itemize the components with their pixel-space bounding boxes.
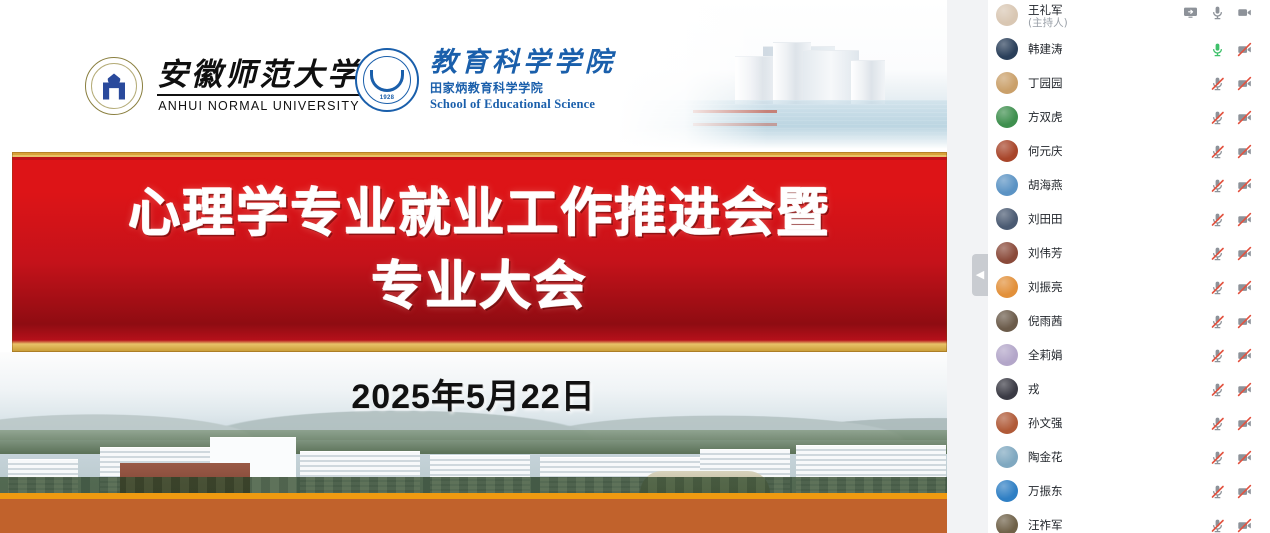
meeting-window: 安徽师范大学 ANHUI NORMAL UNIVERSITY 1928 教育科学… bbox=[0, 0, 1270, 533]
participant-name: 何元庆 bbox=[1028, 144, 1063, 158]
participant-name: 戎 bbox=[1028, 382, 1040, 396]
university-logo: 安徽师范大学 ANHUI NORMAL UNIVERSITY bbox=[85, 57, 361, 115]
participant-name: 万振东 bbox=[1028, 484, 1063, 498]
panel-collapse-handle[interactable]: ◀ bbox=[972, 254, 988, 296]
participant-name-block: 胡海燕 bbox=[1028, 178, 1063, 192]
participant-name: 王礼军 bbox=[1028, 3, 1068, 17]
participant-row[interactable]: 万振东 bbox=[988, 474, 1270, 508]
microphone-muted-icon[interactable] bbox=[1210, 484, 1225, 499]
participant-row[interactable]: 方双虎 bbox=[988, 100, 1270, 134]
microphone-muted-icon[interactable] bbox=[1210, 144, 1225, 159]
participant-status-icons bbox=[1210, 144, 1260, 159]
waterfront-building-photo bbox=[617, 0, 947, 152]
school-name-en: School of Educational Science bbox=[430, 97, 616, 112]
participant-status-icons bbox=[1210, 382, 1260, 397]
microphone-muted-icon[interactable] bbox=[1210, 416, 1225, 431]
participant-row[interactable]: 刘伟芳 bbox=[988, 236, 1270, 270]
slide-title-banner: 心理学专业就业工作推进会暨 专业大会 bbox=[12, 152, 947, 352]
avatar bbox=[996, 208, 1018, 230]
seal-hands-emblem bbox=[370, 70, 404, 92]
avatar bbox=[996, 412, 1018, 434]
photo-building-4 bbox=[851, 60, 885, 104]
school-name-cn: 教育科学学院 bbox=[430, 48, 616, 76]
microphone-muted-icon[interactable] bbox=[1210, 518, 1225, 533]
participant-row[interactable]: 孙文强 bbox=[988, 406, 1270, 440]
camera-off-icon[interactable] bbox=[1237, 314, 1252, 329]
participant-name-block: 万振东 bbox=[1028, 484, 1063, 498]
participant-row[interactable]: 韩建涛 bbox=[988, 32, 1270, 66]
participant-row[interactable]: 丁园园 bbox=[988, 66, 1270, 100]
microphone-muted-icon[interactable] bbox=[1210, 178, 1225, 193]
camera-icon[interactable] bbox=[1237, 5, 1252, 20]
participant-name: 刘田田 bbox=[1028, 212, 1063, 226]
camera-off-icon[interactable] bbox=[1237, 110, 1252, 125]
participant-name-block: 戎 bbox=[1028, 382, 1040, 396]
camera-off-icon[interactable] bbox=[1237, 348, 1252, 363]
avatar bbox=[996, 72, 1018, 94]
participant-status-icons bbox=[1210, 314, 1260, 329]
participant-name: 胡海燕 bbox=[1028, 178, 1063, 192]
microphone-muted-icon[interactable] bbox=[1210, 246, 1225, 261]
camera-off-icon[interactable] bbox=[1237, 518, 1252, 533]
participant-status-icons bbox=[1210, 178, 1260, 193]
school-seal-icon: 1928 bbox=[355, 48, 419, 112]
participant-name: 倪雨茜 bbox=[1028, 314, 1063, 328]
participant-name-block: 王礼军(主持人) bbox=[1028, 3, 1068, 31]
microphone-muted-icon[interactable] bbox=[1210, 314, 1225, 329]
photo-bottom-fade bbox=[617, 126, 947, 152]
campus-buildings bbox=[0, 422, 947, 493]
camera-off-icon[interactable] bbox=[1237, 416, 1252, 431]
campus-treeline-near bbox=[0, 477, 947, 493]
slide-title-line-1: 心理学专业就业工作推进会暨 bbox=[12, 181, 947, 248]
microphone-muted-icon[interactable] bbox=[1210, 450, 1225, 465]
participant-name: 孙文强 bbox=[1028, 416, 1063, 430]
microphone-muted-icon[interactable] bbox=[1210, 76, 1225, 91]
participant-name: 方双虎 bbox=[1028, 110, 1063, 124]
participant-name-block: 方双虎 bbox=[1028, 110, 1063, 124]
participant-status-icons bbox=[1210, 110, 1260, 125]
participant-name-block: 刘田田 bbox=[1028, 212, 1063, 226]
avatar bbox=[996, 378, 1018, 400]
participant-row[interactable]: 戎 bbox=[988, 372, 1270, 406]
participant-name-block: 刘伟芳 bbox=[1028, 246, 1063, 260]
avatar bbox=[996, 276, 1018, 298]
participant-name: 刘振亮 bbox=[1028, 280, 1063, 294]
camera-off-icon[interactable] bbox=[1237, 246, 1252, 261]
participant-status-icons bbox=[1183, 5, 1260, 20]
university-name-cn: 安徽师范大学 bbox=[157, 59, 361, 96]
participant-row[interactable]: 王礼军(主持人) bbox=[988, 0, 1270, 32]
university-seal-icon bbox=[85, 57, 143, 115]
participant-name-block: 刘振亮 bbox=[1028, 280, 1063, 294]
camera-off-icon[interactable] bbox=[1237, 382, 1252, 397]
participant-name-block: 倪雨茜 bbox=[1028, 314, 1063, 328]
microphone-icon[interactable] bbox=[1210, 42, 1225, 57]
slide-title-line-2: 专业大会 bbox=[12, 254, 947, 321]
participant-name-block: 韩建涛 bbox=[1028, 42, 1063, 56]
participant-status-icons bbox=[1210, 484, 1260, 499]
participant-row[interactable]: 刘田田 bbox=[988, 202, 1270, 236]
participant-row[interactable]: 倪雨茜 bbox=[988, 304, 1270, 338]
microphone-muted-icon[interactable] bbox=[1210, 110, 1225, 125]
participant-name-block: 丁园园 bbox=[1028, 76, 1063, 90]
participant-status-icons bbox=[1210, 246, 1260, 261]
screen-share-icon[interactable] bbox=[1183, 5, 1198, 20]
participants-panel[interactable]: 王礼军(主持人)韩建涛丁园园方双虎何元庆胡海燕刘田田刘伟芳刘振亮倪雨茜全莉娟戎孙… bbox=[988, 0, 1270, 533]
avatar bbox=[996, 446, 1018, 468]
avatar bbox=[996, 480, 1018, 502]
avatar bbox=[996, 140, 1018, 162]
microphone-muted-icon[interactable] bbox=[1210, 382, 1225, 397]
avatar bbox=[996, 38, 1018, 60]
chevron-left-icon: ◀ bbox=[976, 270, 984, 281]
school-logo: 1928 教育科学学院 田家炳教育科学学院 School of Educatio… bbox=[355, 48, 616, 112]
school-seal-year: 1928 bbox=[380, 95, 395, 101]
avatar bbox=[996, 242, 1018, 264]
avatar bbox=[996, 344, 1018, 366]
participant-row[interactable]: 陶金花 bbox=[988, 440, 1270, 474]
participant-name-block: 陶金花 bbox=[1028, 450, 1063, 464]
avatar bbox=[996, 4, 1018, 26]
participant-name-block: 孙文强 bbox=[1028, 416, 1063, 430]
camera-off-icon[interactable] bbox=[1237, 280, 1252, 295]
camera-off-icon[interactable] bbox=[1237, 42, 1252, 57]
camera-off-icon[interactable] bbox=[1237, 76, 1252, 91]
seal-emblem bbox=[103, 74, 125, 100]
participant-row[interactable]: 何元庆 bbox=[988, 134, 1270, 168]
participant-name: 丁园园 bbox=[1028, 76, 1063, 90]
microphone-muted-icon[interactable] bbox=[1210, 212, 1225, 227]
participant-name-block: 全莉娟 bbox=[1028, 348, 1063, 362]
microphone-icon[interactable] bbox=[1210, 5, 1225, 20]
presentation-slide: 安徽师范大学 ANHUI NORMAL UNIVERSITY 1928 教育科学… bbox=[0, 0, 947, 533]
microphone-muted-icon[interactable] bbox=[1210, 280, 1225, 295]
participant-row[interactable]: 刘振亮 bbox=[988, 270, 1270, 304]
microphone-muted-icon[interactable] bbox=[1210, 348, 1225, 363]
avatar bbox=[996, 174, 1018, 196]
participant-status-icons bbox=[1210, 518, 1260, 533]
participant-name: 全莉娟 bbox=[1028, 348, 1063, 362]
participant-row[interactable]: 全莉娟 bbox=[988, 338, 1270, 372]
participant-status-icons bbox=[1210, 212, 1260, 227]
school-name-cn-sub: 田家炳教育科学学院 bbox=[430, 79, 616, 96]
participant-name-block: 何元庆 bbox=[1028, 144, 1063, 158]
participant-name: 刘伟芳 bbox=[1028, 246, 1063, 260]
participant-status-icons bbox=[1210, 348, 1260, 363]
slide-header: 安徽师范大学 ANHUI NORMAL UNIVERSITY 1928 教育科学… bbox=[0, 0, 947, 152]
avatar bbox=[996, 106, 1018, 128]
slide-footer-band bbox=[0, 493, 947, 533]
participant-status-icons bbox=[1210, 280, 1260, 295]
camera-off-icon[interactable] bbox=[1237, 178, 1252, 193]
camera-off-icon[interactable] bbox=[1237, 450, 1252, 465]
participant-name-block: 汪祚军 bbox=[1028, 518, 1063, 532]
participant-name: 韩建涛 bbox=[1028, 42, 1063, 56]
participant-name: 陶金花 bbox=[1028, 450, 1063, 464]
slide-date: 2025年5月22日 bbox=[0, 369, 947, 418]
camera-off-icon[interactable] bbox=[1237, 144, 1252, 159]
participant-row[interactable]: 汪祚军 bbox=[988, 508, 1270, 533]
participant-list: 王礼军(主持人)韩建涛丁园园方双虎何元庆胡海燕刘田田刘伟芳刘振亮倪雨茜全莉娟戎孙… bbox=[988, 0, 1270, 533]
participant-status-icons bbox=[1210, 416, 1260, 431]
camera-off-icon[interactable] bbox=[1237, 212, 1252, 227]
participant-status-icons bbox=[1210, 42, 1260, 57]
participant-status-icons bbox=[1210, 76, 1260, 91]
participant-role: (主持人) bbox=[1028, 17, 1068, 30]
university-name-en: ANHUI NORMAL UNIVERSITY bbox=[157, 99, 361, 113]
camera-off-icon[interactable] bbox=[1237, 484, 1252, 499]
participant-name: 汪祚军 bbox=[1028, 518, 1063, 532]
avatar bbox=[996, 310, 1018, 332]
participant-status-icons bbox=[1210, 450, 1260, 465]
participant-row[interactable]: 胡海燕 bbox=[988, 168, 1270, 202]
avatar bbox=[996, 514, 1018, 533]
shared-screen-stage[interactable]: 安徽师范大学 ANHUI NORMAL UNIVERSITY 1928 教育科学… bbox=[0, 0, 947, 533]
